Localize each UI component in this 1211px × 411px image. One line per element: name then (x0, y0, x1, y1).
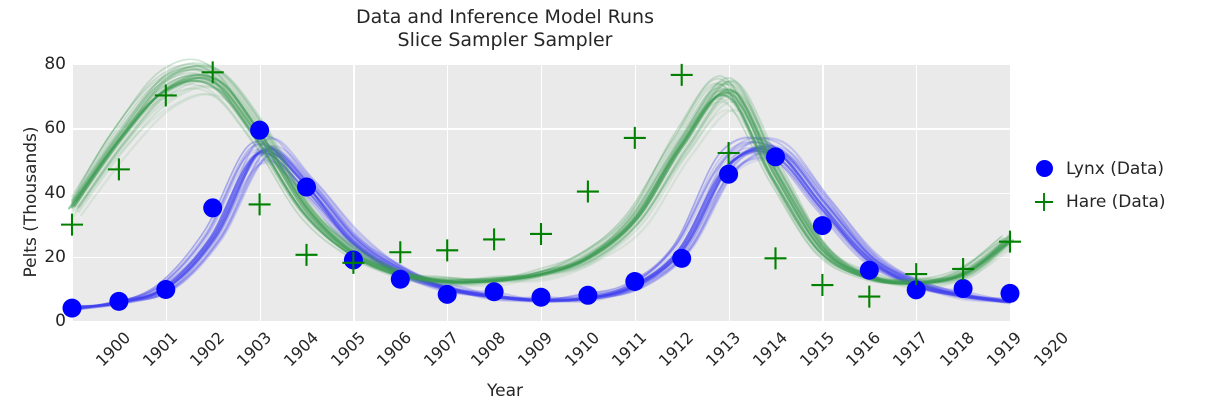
x-tick-label: 1904 (280, 328, 322, 370)
plot-data-layer (72, 64, 1010, 321)
data-point-lynx (250, 121, 269, 140)
data-point-lynx (1001, 284, 1020, 303)
data-point-lynx (954, 279, 973, 298)
data-point-hare (483, 228, 505, 250)
y-tick-label: 80 (4, 54, 66, 74)
data-point-lynx (625, 272, 644, 291)
x-tick-label: 1910 (561, 328, 603, 370)
chart-figure: Data and Inference Model Runs Slice Samp… (0, 0, 1211, 411)
x-tick-label: 1918 (936, 328, 978, 370)
legend-label-hare: Hare (Data) (1066, 192, 1166, 212)
data-point-lynx (719, 165, 738, 184)
data-point-hare (624, 127, 646, 149)
data-point-lynx (766, 147, 785, 166)
data-point-lynx (297, 178, 316, 197)
legend-plus-icon (1022, 190, 1066, 214)
data-point-lynx (860, 261, 879, 280)
data-point-lynx (672, 249, 691, 268)
x-tick-label: 1900 (92, 328, 134, 370)
x-tick-label: 1907 (420, 328, 462, 370)
data-point-lynx (203, 198, 222, 217)
x-tick-label: 1908 (467, 328, 509, 370)
data-point-hare (811, 274, 833, 296)
x-tick-label: 1912 (655, 328, 697, 370)
data-point-hare (858, 286, 880, 308)
data-point-hare (249, 193, 271, 215)
x-tick-label: 1903 (233, 328, 275, 370)
x-tick-label: 1915 (795, 328, 837, 370)
data-point-lynx (109, 292, 128, 311)
data-point-lynx (532, 288, 551, 307)
data-point-lynx (813, 216, 832, 235)
x-tick-label: 1901 (139, 328, 181, 370)
data-point-hare (765, 247, 787, 269)
legend-item-hare[interactable]: Hare (Data) (1022, 185, 1211, 218)
y-axis-title: Pelts (Thousands) (21, 87, 41, 317)
x-tick-label: 1916 (842, 328, 884, 370)
legend: Lynx (Data) Hare (Data) (1022, 152, 1211, 218)
data-point-lynx (156, 280, 175, 299)
gridline-horizontal (72, 321, 1010, 322)
data-point-hare (577, 181, 599, 203)
x-tick-label: 1909 (514, 328, 556, 370)
chart-title-line1: Data and Inference Model Runs (356, 6, 654, 28)
data-point-lynx (438, 285, 457, 304)
chart-title: Data and Inference Model Runs Slice Samp… (0, 6, 1010, 52)
legend-label-lynx: Lynx (Data) (1066, 159, 1164, 179)
x-tick-label: 1905 (326, 328, 368, 370)
x-tick-label: 1911 (608, 328, 650, 370)
data-markers-lynx (63, 121, 1020, 318)
gridline-vertical (1010, 64, 1011, 321)
data-point-lynx (485, 282, 504, 301)
data-point-lynx (391, 270, 410, 289)
x-tick-label: 1913 (702, 328, 744, 370)
data-point-hare (530, 223, 552, 245)
x-tick-label: 1919 (983, 328, 1025, 370)
x-tick-label: 1920 (1030, 328, 1072, 370)
data-point-hare (671, 64, 693, 86)
x-tick-label: 1902 (186, 328, 228, 370)
x-tick-label: 1914 (749, 328, 791, 370)
legend-item-lynx[interactable]: Lynx (Data) (1022, 152, 1211, 185)
data-point-hare (436, 239, 458, 261)
data-point-lynx (578, 286, 597, 305)
chart-subtitle: Slice Sampler Sampler (0, 29, 1010, 52)
x-tick-label: 1917 (889, 328, 931, 370)
x-tick-label: 1906 (373, 328, 415, 370)
x-axis-title: Year (0, 381, 1010, 401)
legend-circle-icon (1022, 160, 1066, 177)
data-point-hare (296, 244, 318, 266)
